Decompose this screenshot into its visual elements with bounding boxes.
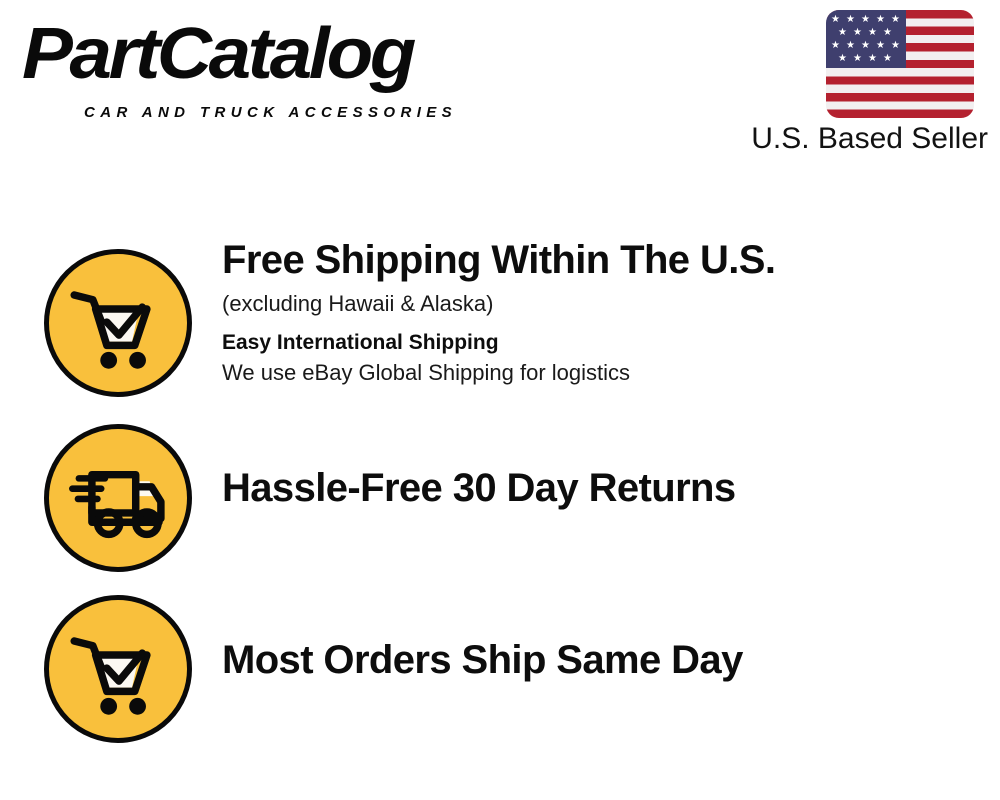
feature-subheading: Easy International Shipping — [222, 328, 982, 358]
feature-text-free-shipping: Free Shipping Within The U.S. (excluding… — [222, 237, 982, 388]
flag-star: ★ — [846, 15, 855, 25]
banner-header: PartCatalog CAR AND TRUCK ACCESSORIES ★ … — [0, 0, 1000, 170]
flag-star: ★ — [876, 15, 885, 25]
flag-star: ★ — [831, 41, 840, 51]
flag-star: ★ — [891, 41, 900, 51]
brand-tagline: CAR AND TRUCK ACCESSORIES — [84, 104, 457, 122]
promo-banner: PartCatalog CAR AND TRUCK ACCESSORIES ★ … — [0, 0, 1000, 800]
flag-star: ★ — [876, 41, 885, 51]
flag-star: ★ — [846, 41, 855, 51]
feature-row-returns: Hassle-Free 30 Day Returns — [0, 420, 1000, 570]
feature-text-returns: Hassle-Free 30 Day Returns — [222, 465, 982, 511]
flag-star: ★ — [838, 28, 847, 38]
flag-star: ★ — [883, 54, 892, 64]
brand-wordmark: PartCatalog — [22, 16, 413, 92]
flag-star: ★ — [831, 15, 840, 25]
flag-star: ★ — [868, 28, 877, 38]
flag-star: ★ — [861, 15, 870, 25]
shopping-cart-check-icon — [44, 249, 192, 397]
delivery-truck-icon — [44, 424, 192, 572]
feature-title: Free Shipping Within The U.S. — [222, 237, 982, 283]
flag-star: ★ — [853, 28, 862, 38]
flag-canton: ★ ★ ★ ★ ★ ★ ★ ★ ★ ★ ★ ★ ★ ★ ★ ★ ★ — [826, 10, 906, 68]
us-based-seller-label: U.S. Based Seller — [716, 121, 988, 157]
feature-title: Most Orders Ship Same Day — [222, 637, 982, 683]
flag-star: ★ — [861, 41, 870, 51]
brand-logo: PartCatalog CAR AND TRUCK ACCESSORIES — [22, 16, 492, 126]
flag-star: ★ — [891, 15, 900, 25]
feature-note: (excluding Hawaii & Alaska) — [222, 289, 982, 319]
feature-title: Hassle-Free 30 Day Returns — [222, 465, 982, 511]
feature-row-same-day-shipping: Most Orders Ship Same Day — [0, 592, 1000, 742]
us-based-seller-badge: ★ ★ ★ ★ ★ ★ ★ ★ ★ ★ ★ ★ ★ ★ ★ ★ ★ — [716, 8, 988, 160]
feature-text-same-day-shipping: Most Orders Ship Same Day — [222, 637, 982, 683]
flag-star: ★ — [853, 54, 862, 64]
flag-star: ★ — [883, 28, 892, 38]
feature-subtext: We use eBay Global Shipping for logistic… — [222, 358, 982, 388]
us-flag-icon: ★ ★ ★ ★ ★ ★ ★ ★ ★ ★ ★ ★ ★ ★ ★ ★ ★ — [826, 10, 974, 118]
flag-star: ★ — [838, 54, 847, 64]
flag-star: ★ — [868, 54, 877, 64]
shopping-cart-check-icon — [44, 595, 192, 743]
feature-row-free-shipping: Free Shipping Within The U.S. (excluding… — [0, 237, 1000, 412]
